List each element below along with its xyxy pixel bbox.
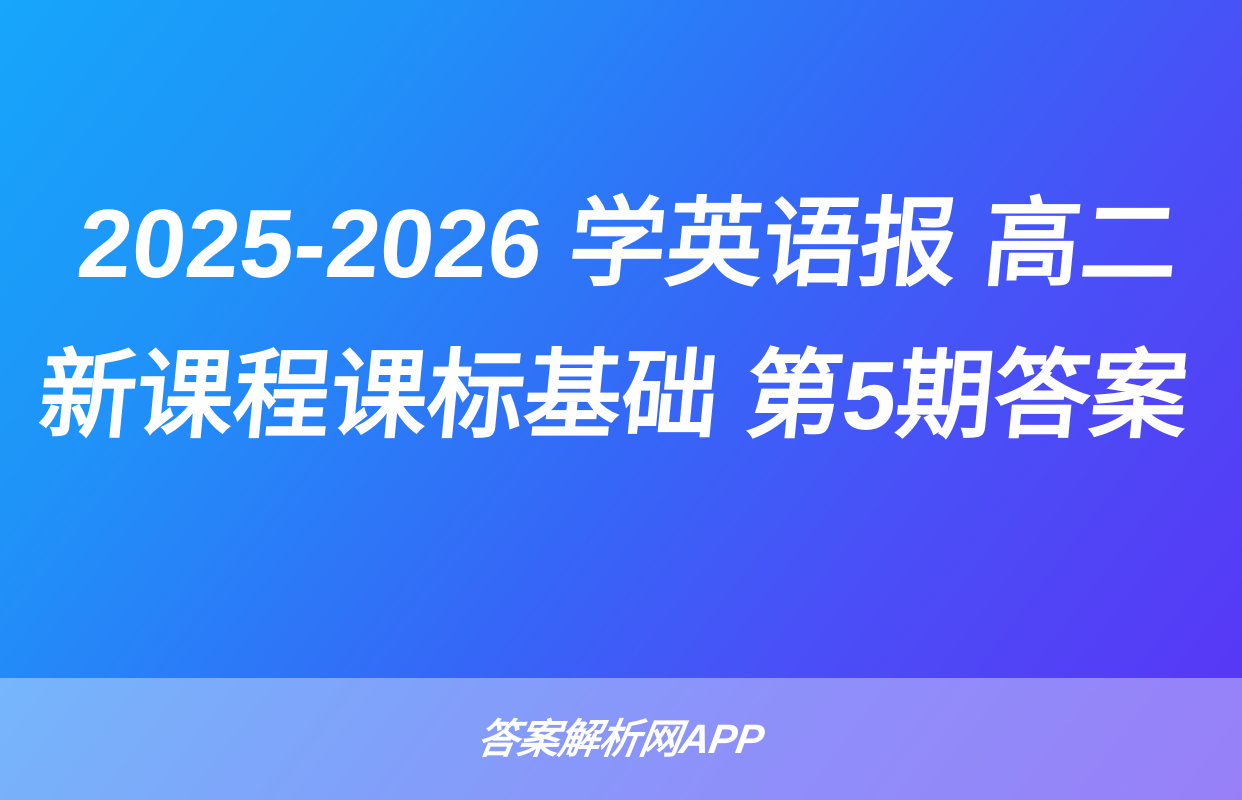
footer-brand-band: 答案解析网APP — [0, 678, 1242, 800]
page-title-text: 2025-2026 学英语报 高二 新课程课标基础 第5期答案 — [35, 189, 1193, 450]
answer-poster-card: 2025-2026 学英语报 高二 新课程课标基础 第5期答案 答案解析网APP — [0, 0, 1242, 800]
page-title: 2025-2026 学英语报 高二 新课程课标基础 第5期答案 — [0, 168, 1242, 472]
footer-brand-text: 答案解析网APP — [475, 716, 768, 762]
footer-brand-label: 答案解析网APP — [0, 716, 1242, 762]
